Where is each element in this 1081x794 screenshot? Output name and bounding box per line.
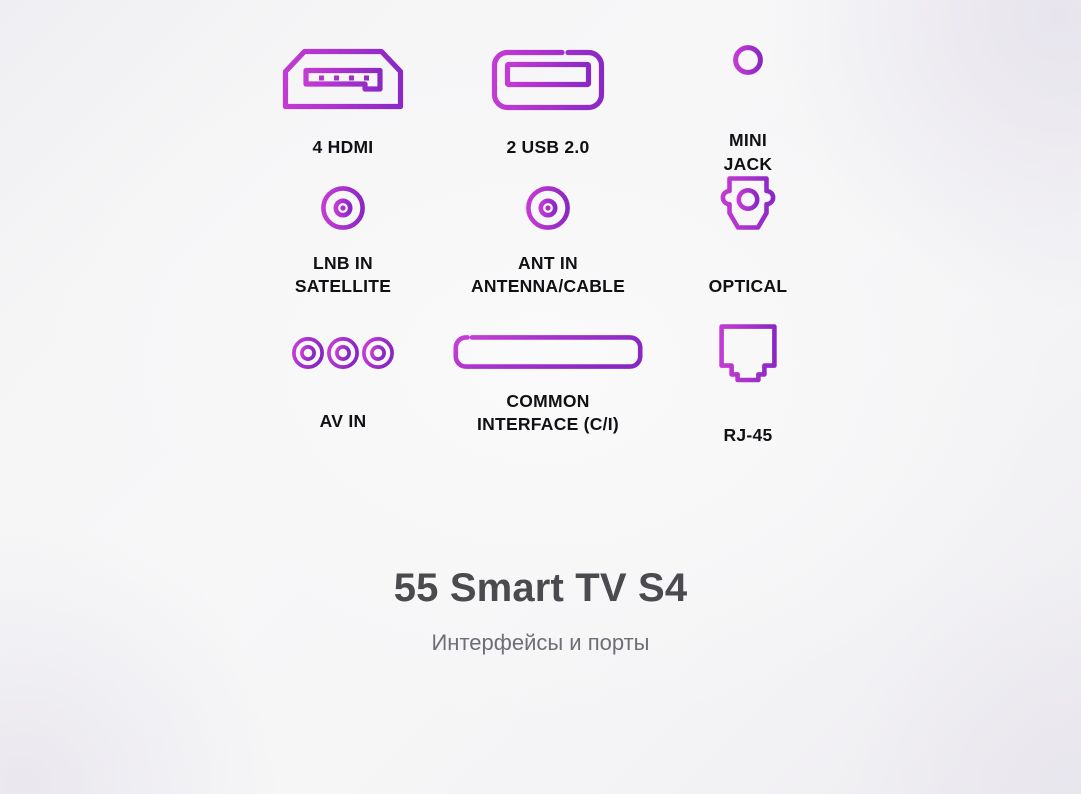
port-label-mini-jack: MINI JACK [724, 129, 773, 176]
port-label-lnb: LNB IN SATELLITE [295, 252, 391, 299]
product-info-block: 55 Smart TV S4 Интерфейсы и порты [0, 565, 1081, 656]
mini-jack-port-icon [731, 28, 765, 105]
port-label-av: AV IN [320, 410, 367, 433]
rj45-ethernet-port-icon [717, 318, 779, 384]
product-title: 55 Smart TV S4 [0, 565, 1081, 611]
common-interface-slot-icon [452, 318, 644, 370]
port-item-antenna: ANT IN ANTENNA/CABLE [443, 176, 653, 318]
interfaces-and-ports-infographic: 4 HDMI 2 USB 2.0 MINI JACK [0, 0, 1081, 794]
hdmi-port-icon [280, 28, 406, 112]
port-label-usb: 2 USB 2.0 [506, 136, 589, 159]
port-item-av: AV IN [243, 318, 443, 466]
port-label-hdmi: 4 HDMI [313, 136, 374, 159]
port-item-optical: OPTICAL [653, 176, 843, 318]
coaxial-lnb-port-icon [319, 176, 367, 232]
optical-toslink-port-icon [717, 176, 779, 232]
port-item-lnb: LNB IN SATELLITE [243, 176, 443, 318]
port-item-hdmi: 4 HDMI [243, 28, 443, 176]
port-item-common-interface: COMMON INTERFACE (C/I) [443, 318, 653, 466]
port-label-antenna: ANT IN ANTENNA/CABLE [471, 252, 625, 299]
av-rca-port-icon [291, 318, 395, 370]
ports-grid: 4 HDMI 2 USB 2.0 MINI JACK [243, 28, 843, 466]
port-label-optical: OPTICAL [709, 275, 788, 298]
port-label-rj45: RJ-45 [724, 424, 773, 447]
port-item-rj45: RJ-45 [653, 318, 843, 466]
usb-port-icon [490, 28, 606, 112]
port-label-common-interface: COMMON INTERFACE (C/I) [477, 390, 619, 437]
port-item-usb: 2 USB 2.0 [443, 28, 653, 176]
coaxial-antenna-port-icon [524, 176, 572, 232]
product-subtitle: Интерфейсы и порты [0, 630, 1081, 656]
port-item-mini-jack: MINI JACK [653, 28, 843, 176]
